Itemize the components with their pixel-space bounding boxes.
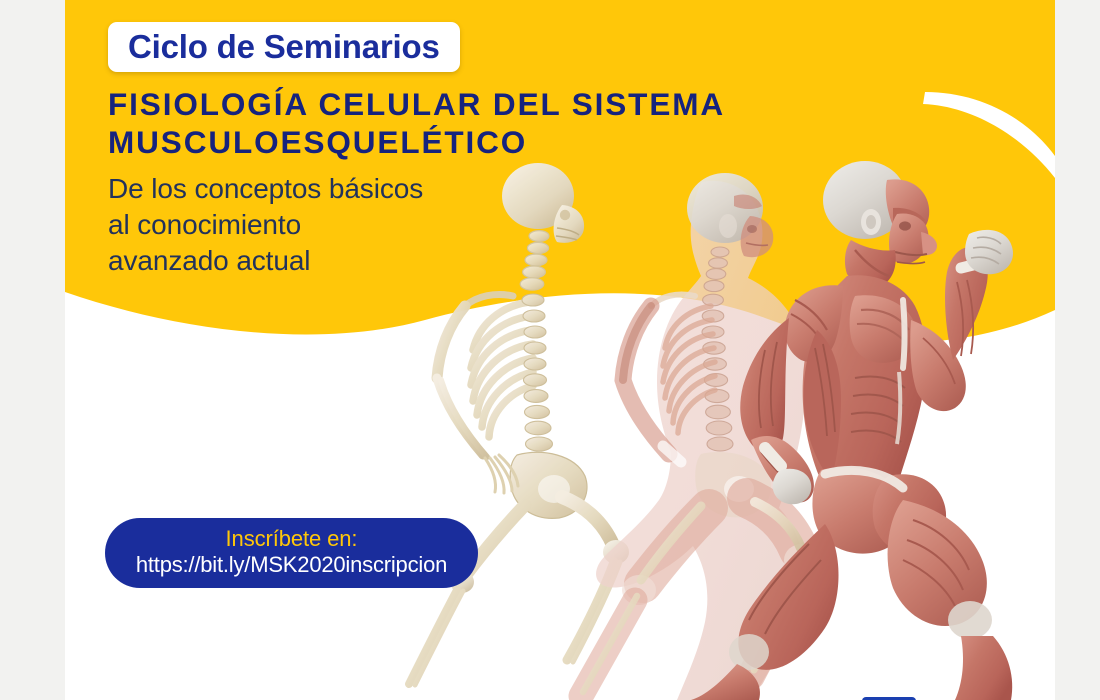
registration-link[interactable]: https://bit.ly/MSK2020inscripcion: [136, 552, 447, 578]
text-block: Ciclo de Seminarios FISIOLOGÍA CELULAR D…: [108, 0, 868, 278]
subtitle-line-1: De los conceptos básicos: [108, 171, 868, 207]
badge-label: Ciclo de Seminarios: [128, 30, 440, 63]
subtitle-line-3: avanzado actual: [108, 243, 868, 279]
seminar-series-badge: Ciclo de Seminarios: [108, 22, 460, 72]
cta-label: Inscríbete en:: [226, 527, 358, 552]
page-subtitle: De los conceptos básicos al conocimiento…: [108, 171, 868, 278]
subtitle-line-2: al conocimiento: [108, 207, 868, 243]
poster-stage: Ciclo de Seminarios FISIOLOGÍA CELULAR D…: [0, 0, 1100, 700]
poster-canvas: Ciclo de Seminarios FISIOLOGÍA CELULAR D…: [65, 0, 1055, 700]
registration-cta-button[interactable]: Inscríbete en: https://bit.ly/MSK2020ins…: [105, 518, 478, 588]
page-title: FISIOLOGÍA CELULAR DEL SISTEMA MUSCULOES…: [108, 85, 808, 162]
